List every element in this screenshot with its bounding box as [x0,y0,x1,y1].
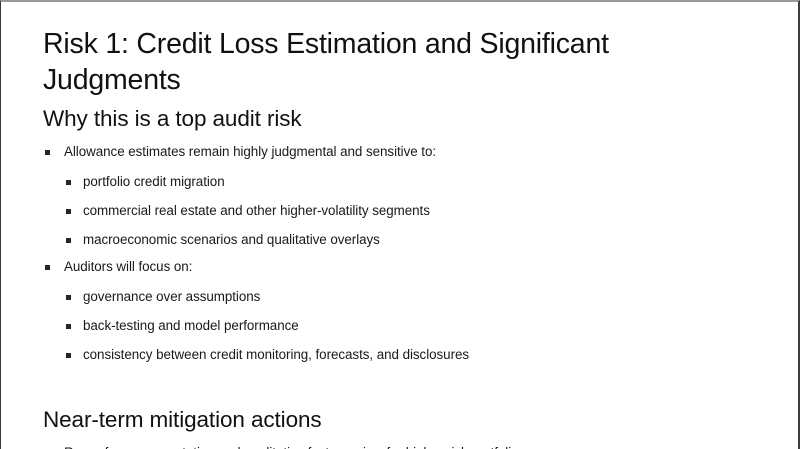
bullet-list: Re-perform segmentation and qualitative … [45,440,759,449]
square-bullet-icon [66,324,71,329]
list-item-label: consistency between credit monitoring, f… [83,347,469,362]
square-bullet-icon [66,295,71,300]
section-why-top-audit-risk: Why this is a top audit risk Allowance e… [43,104,759,369]
list-item: macroeconomic scenarios and qualitative … [64,225,759,254]
square-bullet-icon [66,238,71,243]
list-item-label: commercial real estate and other higher-… [83,203,430,218]
list-item: consistency between credit monitoring, f… [64,340,759,369]
bullet-sublist: portfolio credit migration commercial re… [64,167,759,254]
slide-frame: Risk 1: Credit Loss Estimation and Signi… [0,0,800,449]
list-item: back-testing and model performance [64,311,759,340]
list-item: commercial real estate and other higher-… [64,196,759,225]
list-item: portfolio credit migration [64,167,759,196]
list-item-label: Auditors will focus on: [64,259,192,274]
bullet-list: Auditors will focus on: [45,254,759,280]
list-item-label: macroeconomic scenarios and qualitative … [83,232,380,247]
slide-title: Risk 1: Credit Loss Estimation and Signi… [43,26,663,98]
list-item-label: governance over assumptions [83,289,260,304]
list-item-label: Re-perform segmentation and qualitative … [64,445,525,449]
list-item-label: Allowance estimates remain highly judgme… [64,144,436,159]
square-bullet-icon [45,150,50,155]
bullet-sublist: governance over assumptions back-testing… [64,282,759,369]
section-heading: Near-term mitigation actions [43,405,759,435]
section-near-term-mitigation-actions: Near-term mitigation actions Re-perform … [43,405,759,449]
bullet-list: Allowance estimates remain highly judgme… [45,139,759,165]
square-bullet-icon [66,180,71,185]
square-bullet-icon [66,209,71,214]
list-item-label: portfolio credit migration [83,174,225,189]
square-bullet-icon [45,265,50,270]
slide-content-area: Risk 1: Credit Loss Estimation and Signi… [43,26,759,449]
section-heading: Why this is a top audit risk [43,104,759,134]
list-item: Auditors will focus on: [45,254,759,280]
list-item: Allowance estimates remain highly judgme… [45,139,759,165]
square-bullet-icon [66,353,71,358]
section-spacer [43,369,759,405]
list-item-label: back-testing and model performance [83,318,299,333]
list-item: governance over assumptions [64,282,759,311]
list-item: Re-perform segmentation and qualitative … [45,440,759,449]
